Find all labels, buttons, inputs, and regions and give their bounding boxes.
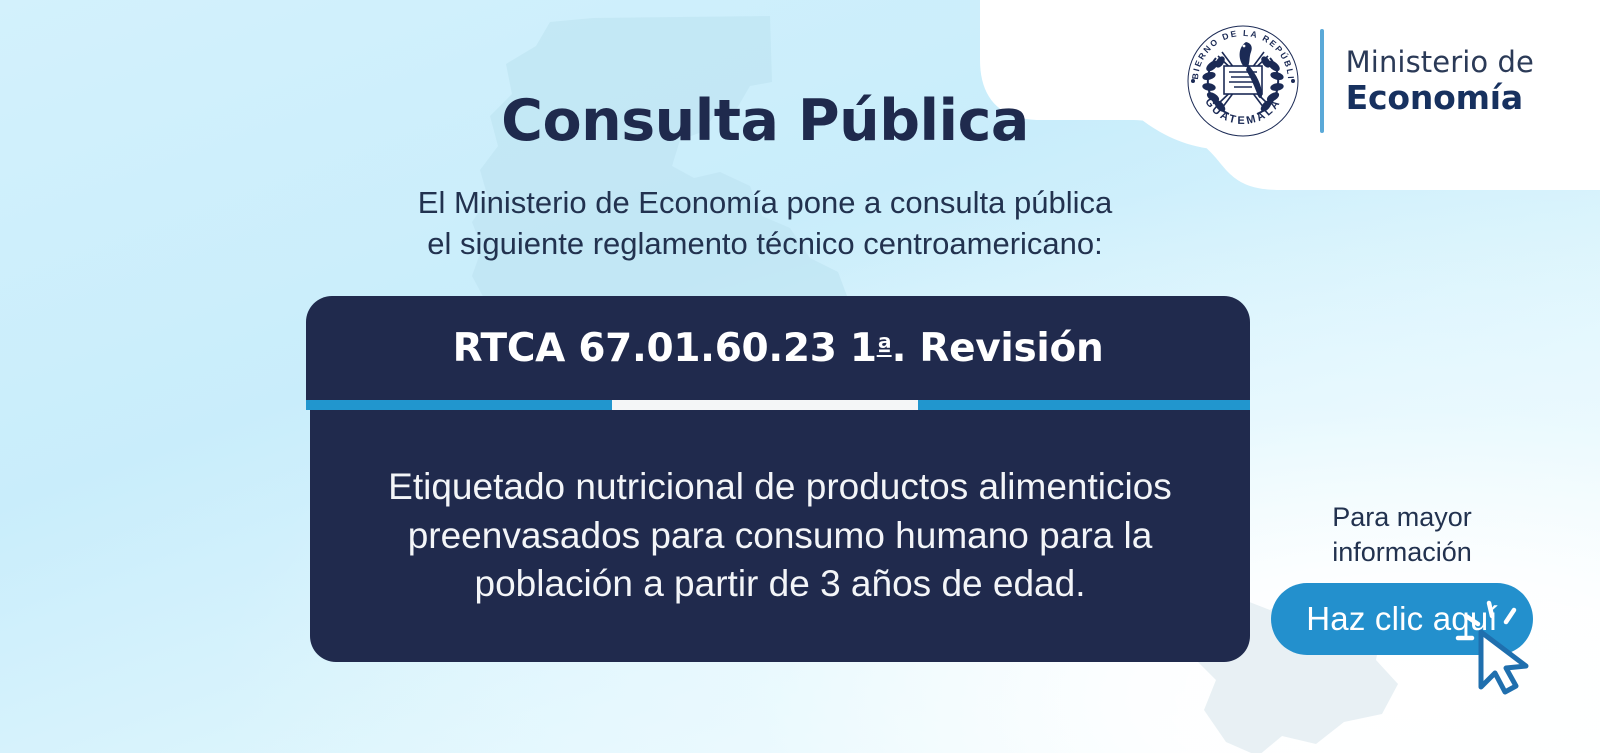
regulation-code-suffix: . Revisión xyxy=(892,326,1104,371)
haz-clic-aqui-button[interactable]: Haz clic aquí xyxy=(1271,583,1533,655)
divider-segment-center xyxy=(612,400,918,410)
regulation-card: RTCA 67.01.60.23 1ª. Revisión Etiquetado… xyxy=(310,296,1250,662)
subtitle-line-1: El Ministerio de Economía pone a consult… xyxy=(0,182,1530,223)
cta-label-line-2: información xyxy=(1262,535,1542,570)
brand-divider xyxy=(1320,29,1324,133)
brand-line-ministerio: Ministerio de xyxy=(1346,48,1534,77)
regulation-code-text: RTCA 67.01.60.23 1 xyxy=(453,326,877,371)
divider-segment-right xyxy=(918,400,1250,410)
divider-segment-left xyxy=(306,400,612,410)
guatemala-coat-of-arms-icon: GOBIERNO DE LA REPÚBLICA GUATEMALA xyxy=(1184,22,1302,140)
cta-label: Para mayor información xyxy=(1262,500,1542,569)
page-subtitle: El Ministerio de Economía pone a consult… xyxy=(0,182,1530,264)
card-body: Etiquetado nutricional de productos alim… xyxy=(310,410,1250,662)
brand-lockup: GOBIERNO DE LA REPÚBLICA GUATEMALA xyxy=(1184,22,1534,140)
ordinal-indicator: ª xyxy=(877,333,892,364)
subtitle-line-2: el siguiente reglamento técnico centroam… xyxy=(0,223,1530,264)
cta-block: Para mayor información Haz clic aquí xyxy=(1262,500,1542,655)
regulation-description: Etiquetado nutricional de productos alim… xyxy=(356,463,1204,608)
brand-line-economia: Economía xyxy=(1346,81,1534,114)
cta-label-line-1: Para mayor xyxy=(1262,500,1542,535)
card-divider-rule xyxy=(306,400,1250,410)
brand-text: Ministerio de Economía xyxy=(1342,48,1534,114)
regulation-code: RTCA 67.01.60.23 1ª. Revisión xyxy=(306,296,1250,400)
